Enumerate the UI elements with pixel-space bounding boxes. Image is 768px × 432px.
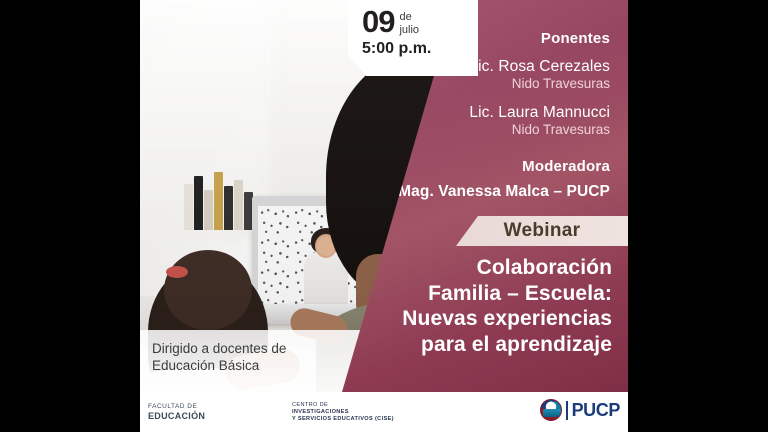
- speaker-1-name: Lic. Rosa Cerezales: [469, 58, 610, 76]
- moderator-header: Moderadora: [522, 158, 610, 175]
- date-day: 09: [362, 6, 394, 38]
- date-of-label: de: [399, 11, 419, 24]
- date-banner: 09 de julio 5:00 p.m.: [348, 0, 478, 76]
- speakers-header: Ponentes: [541, 30, 610, 47]
- cise-logo-line1: CENTRO DE: [292, 402, 394, 409]
- faculty-logo-line2: EDUCACIÓN: [148, 411, 205, 421]
- cise-logo-line2: INVESTIGACIONES: [292, 409, 394, 416]
- faculty-logo: FACULTAD DE EDUCACIÓN: [148, 403, 205, 421]
- footer-logo-bar: FACULTAD DE EDUCACIÓN CENTRO DE INVESTIG…: [140, 392, 628, 432]
- date-row: 09 de julio: [362, 6, 419, 38]
- speaker-1-org: Nido Travesuras: [512, 76, 610, 91]
- screenshot-stage: Dirigido a docentes de Educación Básica …: [0, 0, 768, 432]
- date-month-wrap: de julio: [399, 6, 419, 36]
- pucp-divider: [566, 401, 568, 420]
- cise-logo-line3: Y SERVICIOS EDUCATIVOS (CISE): [292, 416, 394, 423]
- webinar-badge: Webinar: [456, 216, 628, 246]
- pucp-shield-icon: [540, 399, 562, 421]
- faculty-logo-line1: FACULTAD DE: [148, 403, 205, 411]
- cise-logo: CENTRO DE INVESTIGACIONES Y SERVICIOS ED…: [292, 402, 394, 423]
- pucp-logo: PUCP: [540, 399, 620, 421]
- webinar-poster: Dirigido a docentes de Educación Básica …: [140, 0, 628, 432]
- moderator-name: Mag. Vanessa Malca – PUCP: [398, 183, 610, 201]
- webinar-title-line4: para el aprendizaje: [322, 332, 612, 358]
- event-time: 5:00 p.m.: [362, 40, 431, 58]
- pucp-wordmark: PUCP: [572, 400, 620, 421]
- speaker-2-org: Nido Travesuras: [512, 122, 610, 137]
- webinar-badge-label: Webinar: [504, 220, 581, 242]
- speaker-2-name: Lic. Laura Mannucci: [469, 104, 610, 122]
- date-month: julio: [399, 24, 419, 37]
